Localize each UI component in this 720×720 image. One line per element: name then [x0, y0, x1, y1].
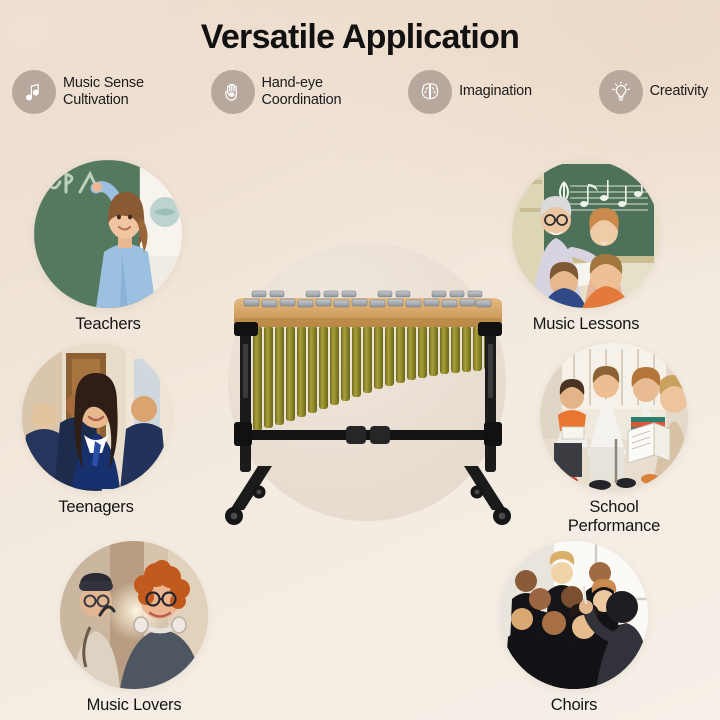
feature-label: Imagination: [459, 83, 532, 100]
use-case-caption: Choirs: [500, 696, 648, 715]
page-title: Versatile Application: [0, 18, 720, 57]
use-case-card-school-performance: School Performance: [540, 343, 688, 536]
feature-label: Music Sense Cultivation: [63, 75, 144, 109]
use-case-photo-teenagers: [22, 343, 170, 491]
lightbulb-icon: [599, 70, 643, 114]
use-case-photo-choirs: [500, 541, 648, 689]
feature-badge-music-sense: Music Sense Cultivation: [12, 70, 144, 114]
use-case-card-teenagers: Teenagers: [22, 343, 170, 517]
use-case-caption: Music Lessons: [512, 315, 660, 334]
hand-eye-icon: [211, 70, 255, 114]
music-note-icon: [12, 70, 56, 114]
product-image-vibraphone: [218, 278, 518, 543]
feature-label: Hand-eye Coordination: [262, 75, 342, 109]
use-case-caption: Music Lovers: [60, 696, 208, 715]
brain-icon: [408, 70, 452, 114]
use-case-card-teachers: Teachers: [34, 160, 182, 334]
use-case-caption: Teenagers: [22, 498, 170, 517]
feature-label: Creativity: [650, 83, 708, 100]
use-case-photo-school-performance: [540, 343, 688, 491]
feature-badge-hand-eye: Hand-eye Coordination: [211, 70, 342, 114]
feature-badge-creativity: Creativity: [599, 70, 708, 114]
infographic-canvas: Versatile Application Music Sense Cultiv…: [0, 0, 720, 720]
use-case-card-music-lessons: Music Lessons: [512, 160, 660, 334]
use-case-photo-music-lessons: [512, 160, 660, 308]
use-case-photo-teachers: [34, 160, 182, 308]
use-case-card-music-lovers: Music Lovers: [60, 541, 208, 715]
use-case-card-choirs: Choirs: [500, 541, 648, 715]
feature-badge-imagination: Imagination: [408, 70, 532, 114]
use-case-caption: Teachers: [34, 315, 182, 334]
feature-badge-row: Music Sense Cultivation Hand-eye Coordin…: [12, 70, 708, 114]
use-case-photo-music-lovers: [60, 541, 208, 689]
use-case-caption: School Performance: [540, 498, 688, 536]
